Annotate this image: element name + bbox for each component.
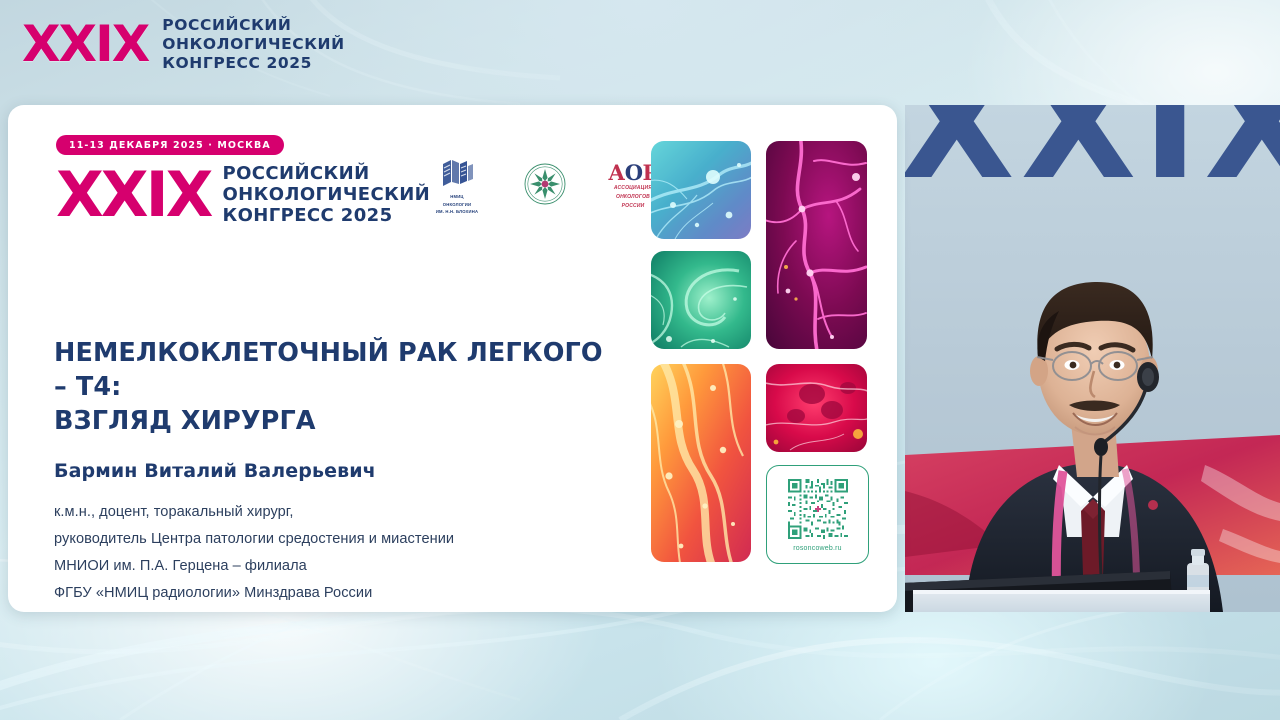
partner-logo-ministry-emblem bbox=[512, 162, 578, 211]
collage-tile-neuro-cells-teal bbox=[651, 141, 751, 239]
nmic-caption-line-1: НМИЦ bbox=[424, 194, 490, 200]
speaker-video-frame: XXIX bbox=[905, 105, 1280, 612]
collage-tile-red-tissue bbox=[766, 364, 867, 452]
brand-wordmark-line-1: Российский bbox=[162, 16, 344, 35]
speaker-affiliation-line-4: ФГБУ «НМИЦ радиологии» Минздрава России bbox=[54, 580, 614, 607]
slide-congress-name: Российский Онкологический Конгресс 2025 bbox=[222, 163, 430, 227]
speaker-affiliation-line-2: руководитель Центра патологии средостени… bbox=[54, 526, 614, 553]
collage-tile-green-swirl bbox=[651, 251, 751, 349]
speaker-affiliation-line-1: к.м.н., доцент, торакальный хирург, bbox=[54, 499, 614, 526]
collage-tile-fire-orange-flow bbox=[651, 364, 751, 562]
partner-logos: НМИЦ онкологии им. Н.Н. Блохина bbox=[424, 135, 666, 215]
brand-wordmark-line-3: Конгресс 2025 bbox=[162, 54, 344, 73]
presentation-slide: 11-13 декабря 2025 · Москва XXIX Российс… bbox=[8, 105, 897, 612]
nmic-caption-line-2: онкологии bbox=[424, 202, 490, 208]
green-swirl-artwork bbox=[651, 251, 751, 349]
magenta-plasma-artwork bbox=[766, 141, 867, 349]
event-brand-logo: XXIX Российский Онкологический Конгресс … bbox=[22, 16, 345, 73]
qr-code-url-label: rosoncoweb.ru bbox=[793, 545, 842, 552]
slide-title-line-2: ВЗГЛЯД ХИРУРГА bbox=[54, 405, 614, 439]
fire-orange-artwork bbox=[651, 364, 751, 562]
slide-title-line-1: НЕМЕЛКОКЛЕТОЧНЫЙ РАК ЛЕГКОГО – Т4: bbox=[54, 337, 614, 405]
brand-roman-numeral: XXIX bbox=[22, 21, 148, 69]
ministry-star-emblem-icon bbox=[523, 162, 567, 206]
speaker-block: Бармин Виталий Валерьевич к.м.н., доцент… bbox=[54, 460, 614, 608]
partner-logo-nmic-oncology: НМИЦ онкологии им. Н.Н. Блохина bbox=[424, 157, 490, 215]
podium-panel bbox=[913, 590, 1210, 612]
backdrop-roman-text: XXIX bbox=[905, 105, 1280, 213]
congress-lockup: XXIX Российский Онкологический Конгресс … bbox=[56, 163, 406, 227]
slide-roman-numeral: XXIX bbox=[56, 168, 210, 223]
speaker-video-feed[interactable]: XXIX bbox=[905, 105, 1280, 612]
congress-name-line-1: Российский bbox=[222, 163, 430, 184]
presentation-stream-stage: XXIX Российский Онкологический Конгресс … bbox=[0, 0, 1280, 720]
slide-title: НЕМЕЛКОКЛЕТОЧНЫЙ РАК ЛЕГКОГО – Т4: ВЗГЛЯ… bbox=[54, 337, 614, 439]
nmic-caption-line-3: им. Н.Н. Блохина bbox=[424, 209, 490, 215]
brand-wordmark: Российский Онкологический Конгресс 2025 bbox=[162, 16, 344, 73]
speaker-name: Бармин Виталий Валерьевич bbox=[54, 460, 614, 482]
neuro-cells-artwork bbox=[651, 141, 751, 239]
congress-lockup-block: 11-13 декабря 2025 · Москва XXIX Российс… bbox=[56, 135, 406, 227]
red-tissue-artwork bbox=[766, 364, 867, 452]
slide-date-badge: 11-13 декабря 2025 · Москва bbox=[56, 135, 284, 155]
nmic-book-icon bbox=[437, 157, 477, 187]
speaker-affiliation-line-3: МНИОИ им. П.А. Герцена – филиала bbox=[54, 553, 614, 580]
congress-name-line-3: Конгресс 2025 bbox=[222, 205, 430, 226]
qr-code-icon[interactable] bbox=[786, 477, 850, 541]
slide-image-collage: rosoncoweb.ru bbox=[645, 138, 873, 570]
collage-tile-magenta-plasma bbox=[766, 141, 867, 349]
brand-wordmark-line-2: Онкологический bbox=[162, 35, 344, 54]
qr-code-card[interactable]: rosoncoweb.ru bbox=[766, 465, 869, 564]
congress-name-line-2: Онкологический bbox=[222, 184, 430, 205]
